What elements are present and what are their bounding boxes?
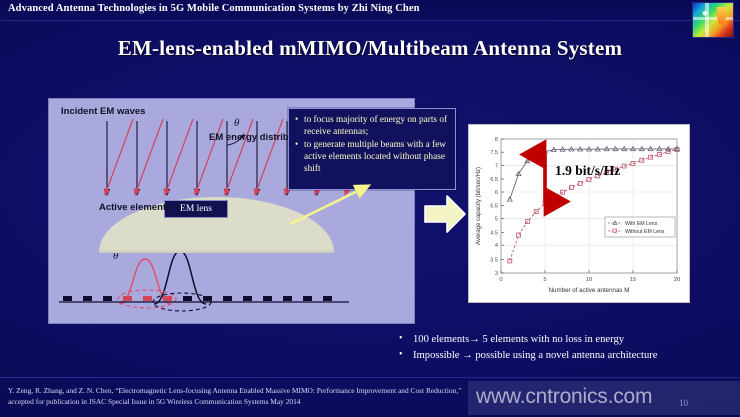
watermark: www.cntronics.com	[468, 381, 740, 415]
svg-text:5: 5	[495, 217, 498, 223]
incident-waves-label: Incident EM waves	[61, 106, 145, 117]
svg-text:7.5: 7.5	[490, 150, 498, 156]
svg-text:20: 20	[674, 277, 680, 283]
callout-box: to focus majority of energy on parts of …	[288, 108, 456, 190]
svg-text:4: 4	[495, 243, 498, 249]
svg-text:4.5: 4.5	[490, 230, 498, 236]
svg-text:6.5: 6.5	[490, 177, 498, 183]
svg-text:5.5: 5.5	[490, 204, 498, 210]
page-number: 10	[679, 398, 688, 408]
capacity-line-chart: 3 3.5 4 4.5 5 5.5 6 6.5 7 7.5 8	[469, 125, 689, 302]
right-block-arrow-icon	[423, 193, 467, 235]
active-elements-label: Active elements	[99, 202, 171, 213]
em-simulation-thumbnail-icon	[692, 2, 734, 38]
svg-text:6: 6	[495, 190, 498, 196]
svg-text:15: 15	[630, 277, 636, 283]
header-title: Advanced Antenna Technologies in 5G Mobi…	[8, 3, 420, 14]
callout-bullet-1: to focus majority of energy on parts of …	[304, 114, 450, 138]
svg-text:Number of active antennas M: Number of active antennas M	[549, 287, 630, 294]
svg-text:3.5: 3.5	[490, 258, 498, 264]
svg-text:0: 0	[499, 277, 502, 283]
svg-text:5: 5	[543, 277, 546, 283]
svg-text:8: 8	[495, 137, 498, 143]
svg-text:With EM Lens: With EM Lens	[625, 221, 658, 227]
em-lens-label: EM lens	[164, 200, 228, 218]
svg-text:3: 3	[495, 271, 498, 277]
watermark-text: www.cntronics.com	[476, 385, 652, 409]
footer-divider	[0, 377, 740, 378]
svg-text:θ: θ	[234, 117, 240, 129]
conclusions-list: 100 elements→ 5 elements with no loss in…	[395, 332, 730, 363]
svg-text:Without EM Lens: Without EM Lens	[625, 229, 665, 235]
header-divider	[0, 20, 740, 21]
svg-text:Average capacity (bit/sec/Hz): Average capacity (bit/sec/Hz)	[476, 167, 482, 245]
capacity-chart-panel: 3 3.5 4 4.5 5 5.5 6 6.5 7 7.5 8	[468, 124, 690, 303]
svg-text:7: 7	[495, 163, 498, 169]
conclusion-bullet-2: Impossible → possible using a novel ante…	[395, 348, 730, 364]
page-title: EM-lens-enabled mMIMO/Multibeam Antenna …	[0, 36, 740, 61]
callout-bullet-2: to generate multiple beams with a few ac…	[304, 139, 450, 175]
slide-canvas: Advanced Antenna Technologies in 5G Mobi…	[0, 0, 740, 417]
capacity-gain-annotation: 1.9 bit/s/Hz	[555, 163, 620, 179]
svg-text:10: 10	[586, 277, 592, 283]
conclusion-bullet-1: 100 elements→ 5 elements with no loss in…	[395, 332, 730, 348]
